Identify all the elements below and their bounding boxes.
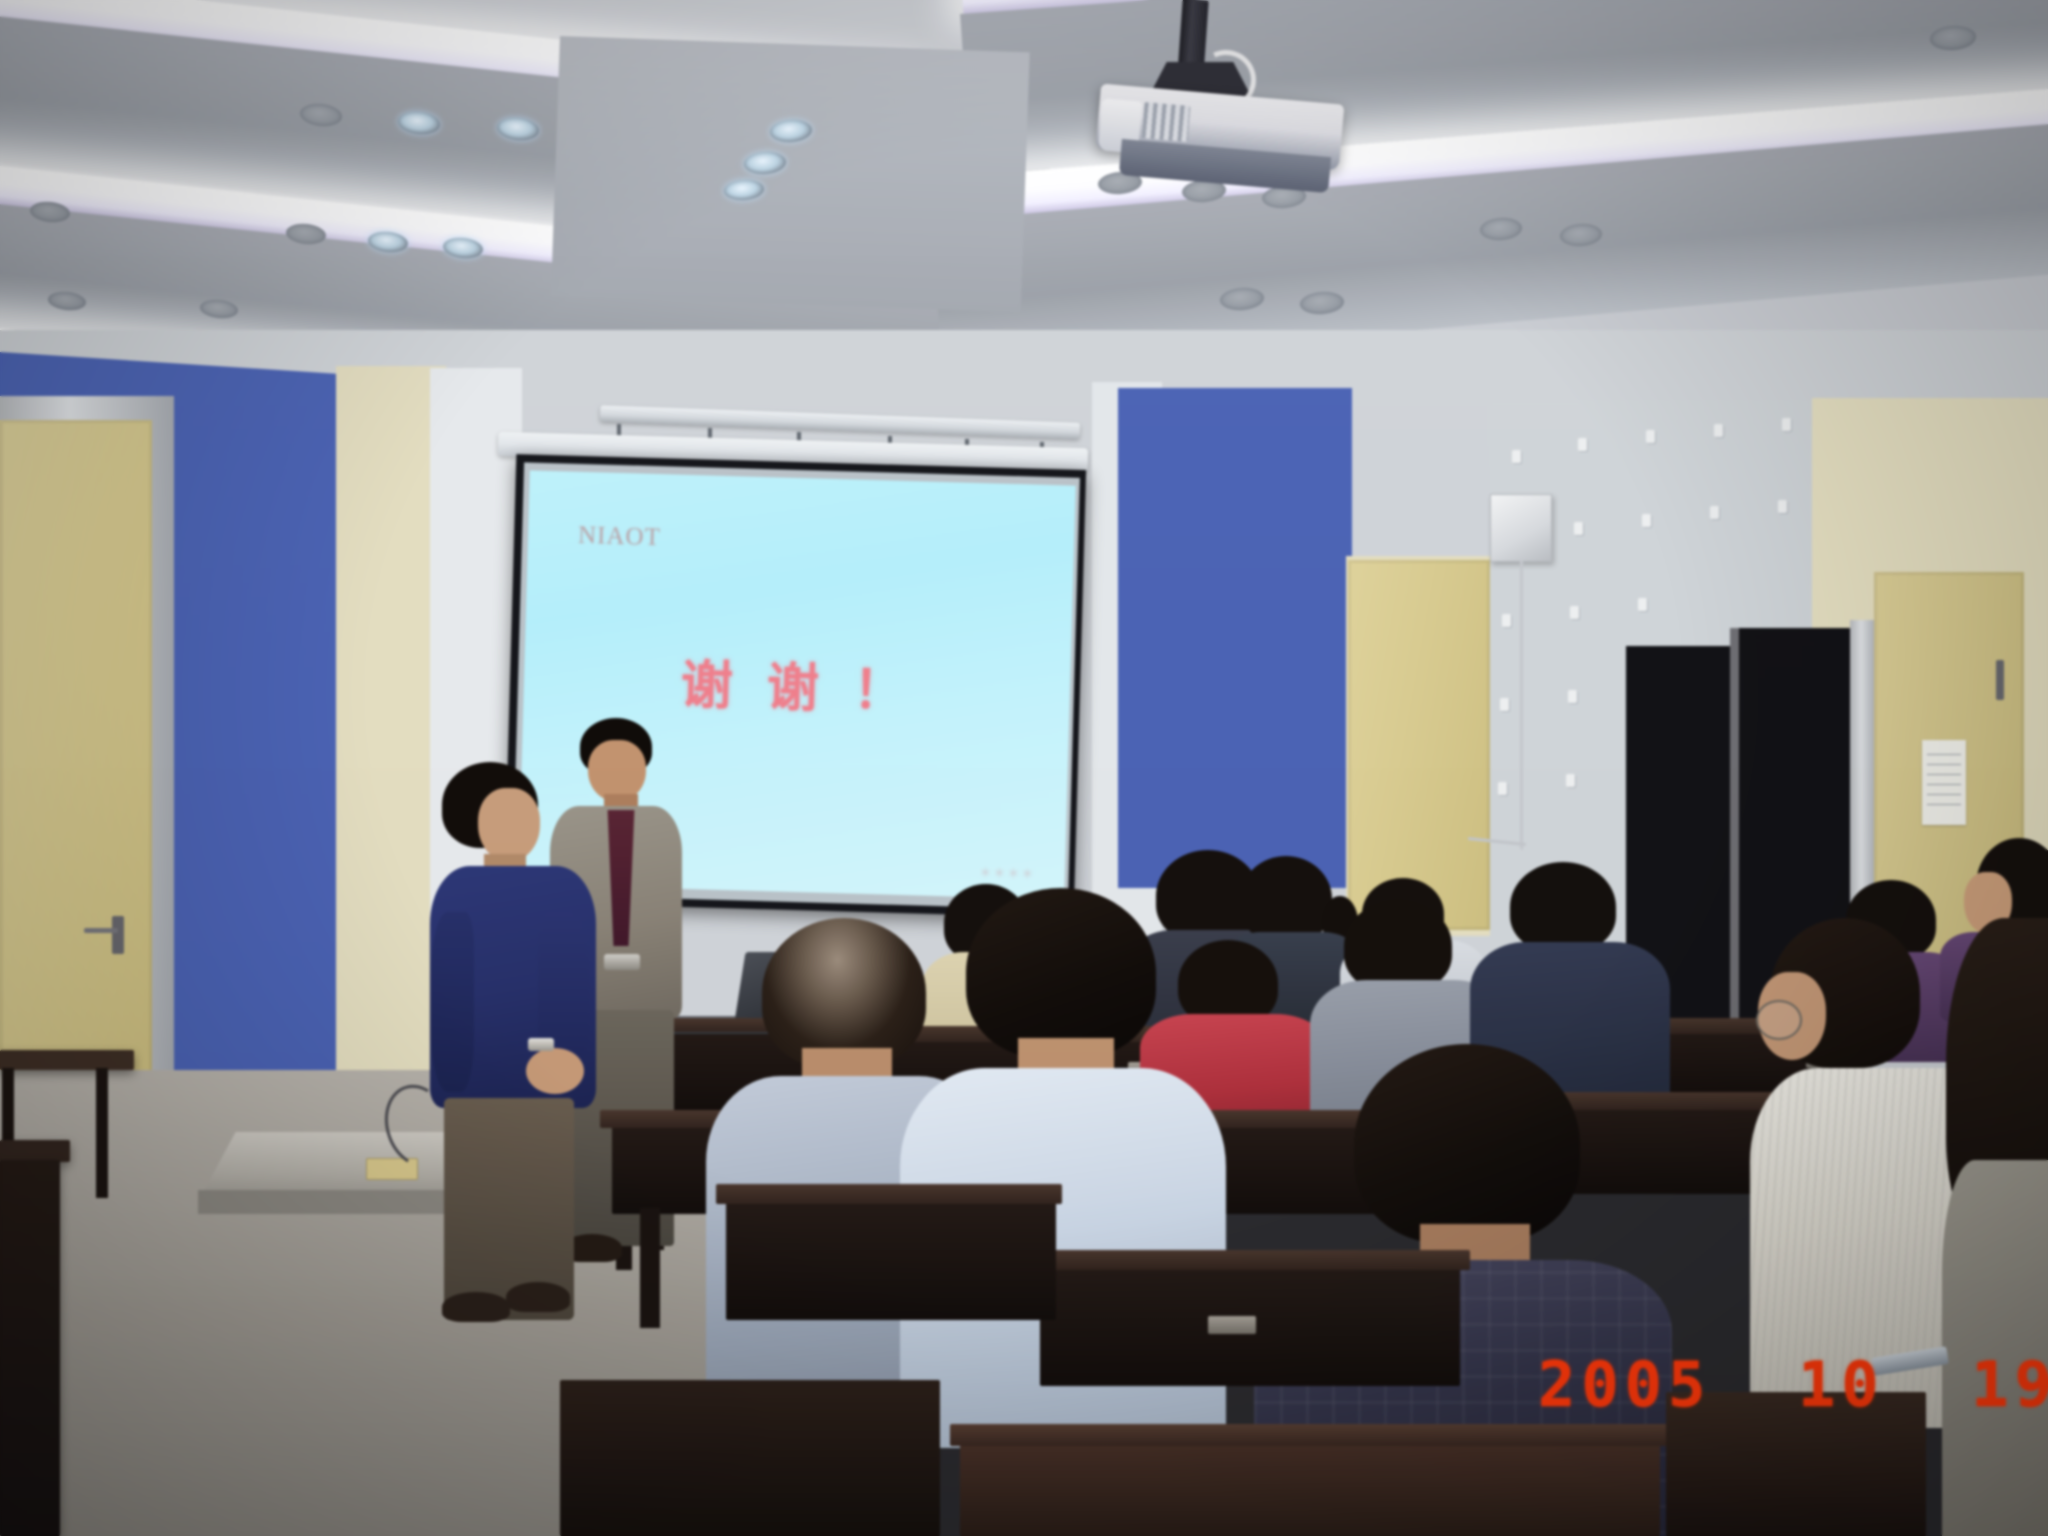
belt-buckle (604, 954, 640, 970)
door-handle-left-bar[interactable] (84, 928, 118, 933)
hair (1354, 1044, 1580, 1244)
door-handle-right[interactable] (1996, 660, 2004, 700)
acoustic-dimple (1646, 430, 1655, 443)
acoustic-dimple (1568, 690, 1577, 703)
side-desk-left-lower-body (0, 1160, 60, 1536)
acoustic-dimple (1570, 606, 1579, 619)
hands-clasped (526, 1048, 584, 1094)
desk-row-3-left (726, 1200, 1056, 1320)
desk-row-3-top (1028, 1250, 1470, 1270)
acoustic-dimple (1498, 782, 1507, 795)
acoustic-dimple (1502, 614, 1511, 627)
acoustic-dimple (1778, 500, 1787, 513)
wristwatch (528, 1038, 554, 1051)
ceiling-panel-center (551, 36, 1030, 312)
eyeglasses (1756, 1000, 1802, 1040)
slide-footnote: ＊＊＊＊ (979, 862, 1036, 883)
cable-drop (1520, 560, 1523, 850)
side-desk-left-lower (0, 1140, 70, 1162)
door-handle-left[interactable] (112, 916, 124, 954)
desk-row-4-front (960, 1440, 1660, 1536)
acoustic-dimple (1512, 450, 1521, 463)
desk-left-foreground (560, 1380, 940, 1536)
wall-speaker (1490, 494, 1552, 562)
hair (966, 888, 1156, 1058)
acoustic-dimple (1710, 506, 1719, 519)
slide-headline: 谢 谢 ！ (523, 638, 1071, 728)
door-right-rear[interactable] (1348, 560, 1490, 930)
arm-left (430, 912, 474, 1092)
hair (1510, 862, 1616, 952)
acoustic-dimple (1574, 522, 1583, 535)
slide-logo: NIAOT (578, 522, 662, 552)
acoustic-dimple (1714, 424, 1723, 437)
acoustic-dimple (1578, 438, 1587, 451)
acoustic-dimple (1638, 598, 1647, 611)
shoe-right (506, 1282, 570, 1312)
desk-row-2-leg (640, 1208, 660, 1328)
desk-clip (1208, 1316, 1256, 1334)
desk-row-4-front-top (950, 1424, 1670, 1446)
acoustic-dimple (1642, 514, 1651, 527)
door-hinge-strip (1730, 628, 1739, 1053)
side-desk-left-upper (0, 1050, 134, 1070)
wall-panel-blue-right (1118, 388, 1352, 888)
lecture-hall-photo: NIAOT 谢 谢 ！ ＊＊＊＊ (0, 0, 2048, 1536)
projector-vent (1142, 102, 1191, 142)
hair (1344, 900, 1452, 992)
acoustic-dimple (1782, 418, 1791, 431)
desk-row-3-left-top (716, 1184, 1062, 1204)
face (478, 788, 540, 862)
side-desk-left-leg (96, 1068, 108, 1198)
acoustic-dimple (1500, 698, 1509, 711)
door-notice (1922, 740, 1966, 825)
camera-datestamp: 2005 10 19 (1538, 1348, 2048, 1421)
acoustic-dimple (1566, 774, 1575, 787)
shoe-left (442, 1292, 510, 1322)
presenter-woman (430, 762, 600, 1322)
